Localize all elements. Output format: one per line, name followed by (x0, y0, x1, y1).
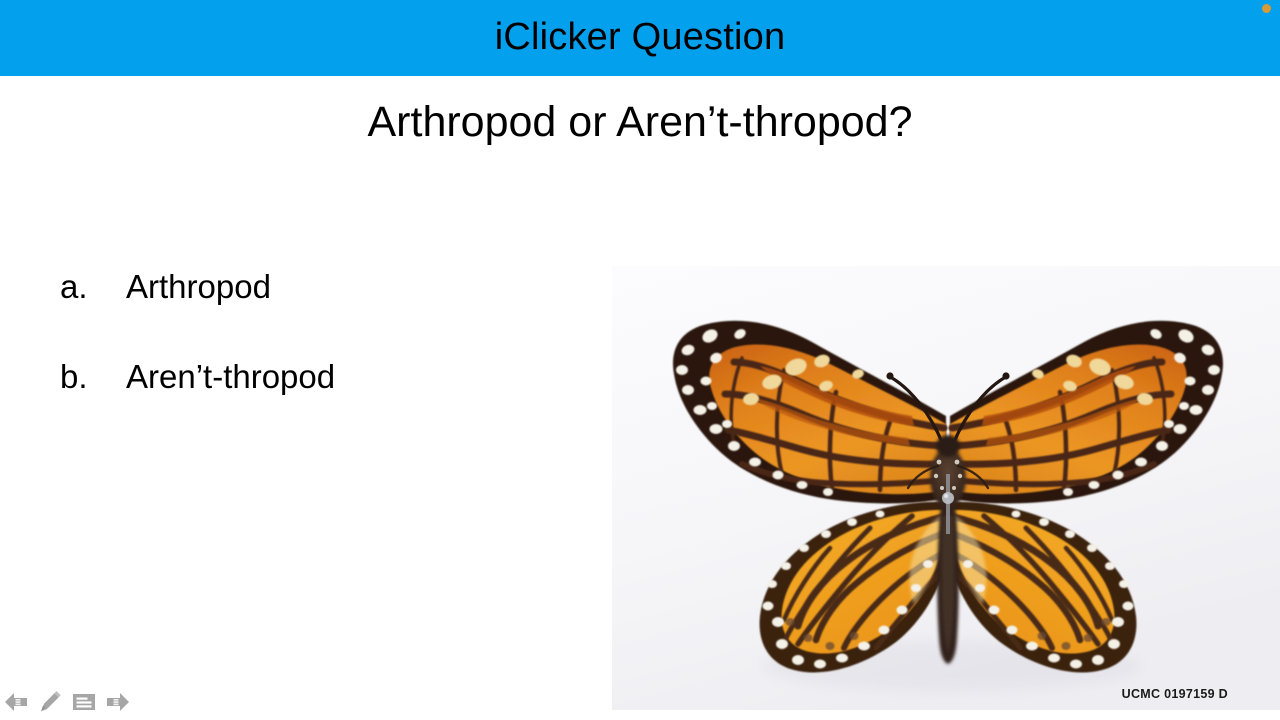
pen-tool[interactable] (36, 688, 64, 716)
monarch-butterfly-illustration (612, 266, 1280, 710)
specimen-catalog-number: UCMC 0197159 D (1122, 687, 1228, 701)
slideshow-nav-controls (2, 688, 132, 716)
header-title: iClicker Question (495, 18, 786, 56)
option-marker-b: b. (60, 358, 126, 396)
question-title: Arthropod or Aren’t-thropod? (0, 99, 1280, 146)
slide-header-bar: iClicker Question (0, 0, 1280, 76)
notes-icon (71, 691, 97, 713)
pencil-icon (37, 689, 63, 715)
answer-option-a[interactable]: a. Arthropod (60, 268, 580, 306)
next-slide-arrow[interactable] (104, 688, 132, 716)
previous-slide-arrow[interactable] (2, 688, 30, 716)
butterfly-specimen-photo: UCMC 0197159 D (612, 266, 1280, 710)
option-label-b: Aren’t-thropod (126, 358, 580, 396)
arrow-right-icon (105, 691, 131, 713)
orange-dot-icon (1262, 4, 1271, 13)
option-label-a: Arthropod (126, 268, 580, 306)
answer-options-list: a. Arthropod b. Aren’t-thropod (60, 268, 580, 448)
answer-option-b[interactable]: b. Aren’t-thropod (60, 358, 580, 396)
presentation-slide: iClicker Question Arthropod or Aren’t-th… (0, 0, 1280, 720)
option-marker-a: a. (60, 268, 126, 306)
slide-menu[interactable] (70, 688, 98, 716)
arrow-left-icon (3, 691, 29, 713)
